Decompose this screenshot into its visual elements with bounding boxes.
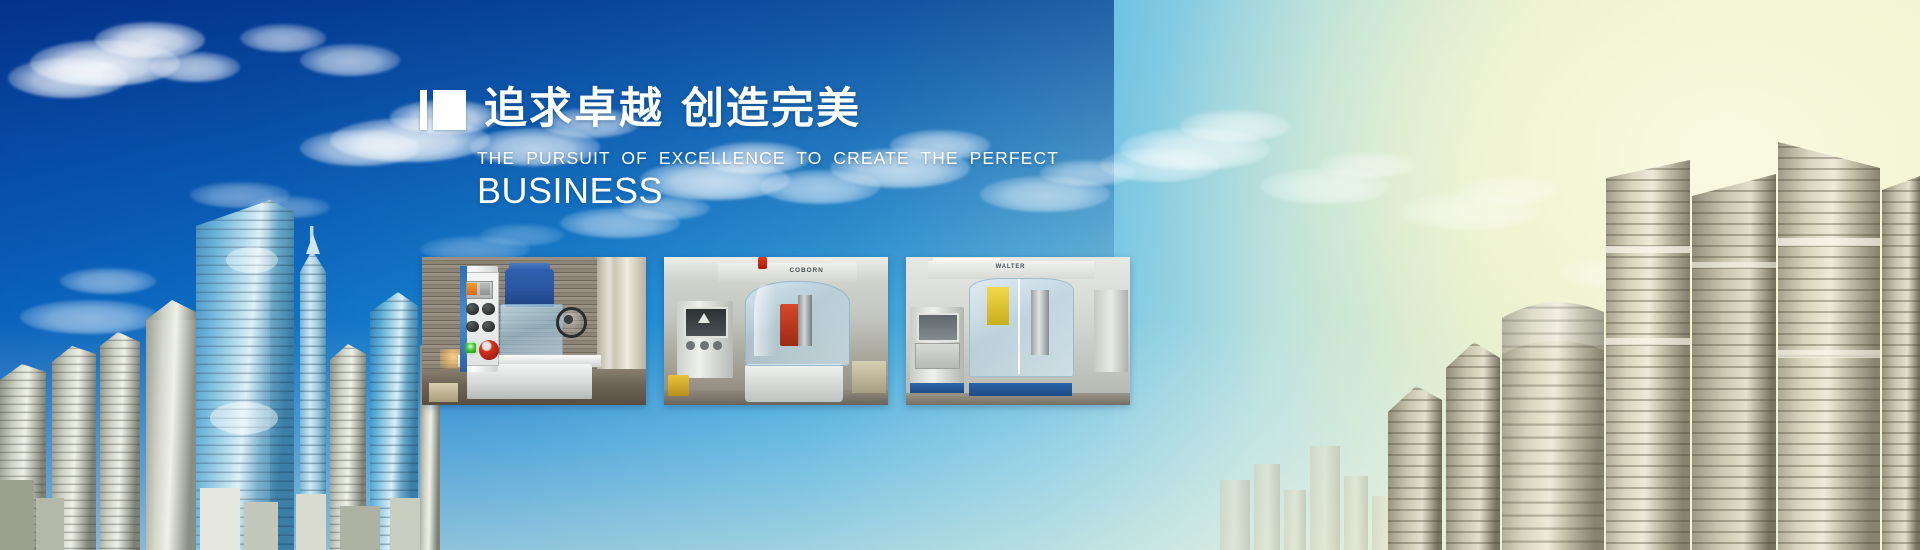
photo-1-emergency-stop-button (479, 340, 499, 360)
product-photo-coborn-machine[interactable]: COBORN (664, 257, 888, 405)
photo-2-spindle (798, 295, 811, 345)
photo-2-machine-drum-base (745, 364, 844, 402)
photo-2-status-beacon (758, 257, 767, 269)
photo-1-knob-1 (466, 303, 478, 315)
city-right-main-tower (1606, 160, 1690, 550)
photo-3-cabinet-screen (917, 313, 959, 342)
photo-1-blue-spindle-head (505, 269, 554, 307)
photo-3-spindle-column (1031, 290, 1049, 355)
photo-1-gray-readout (480, 283, 490, 295)
photo-3-scene: WALTER (906, 257, 1130, 405)
photo-2-scene: COBORN (664, 257, 888, 405)
tagline-english: THE PURSUIT OF EXCELLENCE TO CREATE THE … (477, 148, 1059, 169)
product-photo-strip: COBORN (422, 257, 1130, 405)
logo-bar-icon (420, 90, 427, 130)
photo-3-brand-label: WALTER (996, 264, 1026, 270)
photo-1-green-indicator (466, 343, 476, 353)
photo-2-brand-label: COBORN (789, 267, 823, 274)
cityscape-left (0, 150, 440, 550)
photo-1-knob-2 (482, 303, 494, 315)
photo-1-knob-3 (466, 321, 478, 333)
photo-1-splash-guard (500, 304, 562, 356)
headline-chinese: 追求卓越 创造完美 (484, 88, 861, 131)
headline-row: 追求卓越 创造完美 (420, 88, 861, 131)
city-right-edge-tower (1882, 176, 1920, 550)
photo-2-floor-crate (852, 361, 886, 394)
logo-square-icon (433, 90, 466, 130)
city-right-tallest-tower (1778, 142, 1880, 550)
city-right-far-skyline (1220, 446, 1400, 550)
photo-2-screen-triangle-icon (698, 313, 710, 323)
photo-3-door-split (1018, 279, 1020, 374)
photo-1-scene (422, 257, 646, 405)
city-right-second-tower (1692, 174, 1776, 550)
city-right-mid-towers (1388, 342, 1500, 550)
photo-3-right-rack (1094, 290, 1128, 373)
photo-1-amber-readout (467, 283, 477, 295)
photo-1-knob-4 (482, 321, 494, 333)
corporate-hero-banner: 追求卓越 创造完美 THE PURSUIT OF EXCELLENCE TO C… (0, 0, 1920, 550)
brand-logo-mark (420, 90, 466, 130)
product-photo-cnc-surface-grinder[interactable] (422, 257, 646, 405)
banner-content: 追求卓越 创造完美 THE PURSUIT OF EXCELLENCE TO C… (420, 0, 1180, 550)
photo-1-curtain (615, 257, 646, 375)
photo-1-floor-box (429, 383, 458, 402)
photo-2-yellow-container (668, 375, 688, 396)
photo-3-cabinet-keypad (915, 343, 960, 369)
photo-3-cabinet-blue-trim (910, 383, 964, 393)
cityscape-right (1220, 50, 1920, 550)
city-left-slab-tower (146, 300, 196, 550)
photo-3-glass-enclosure (969, 278, 1074, 378)
photo-2-enclosure-highlight (754, 285, 776, 356)
photo-2-cabinet-button-2 (700, 341, 709, 350)
photo-3-yellow-panel (987, 287, 1009, 325)
photo-1-handwheel-hub (564, 315, 573, 323)
product-photo-walter-machine[interactable]: WALTER (906, 257, 1130, 405)
photo-3-blue-base-trim (969, 383, 1072, 396)
city-right-curved-tower (1502, 302, 1604, 550)
photo-2-machine-hood (718, 263, 857, 282)
tagline-business-word: BUSINESS (477, 170, 663, 212)
